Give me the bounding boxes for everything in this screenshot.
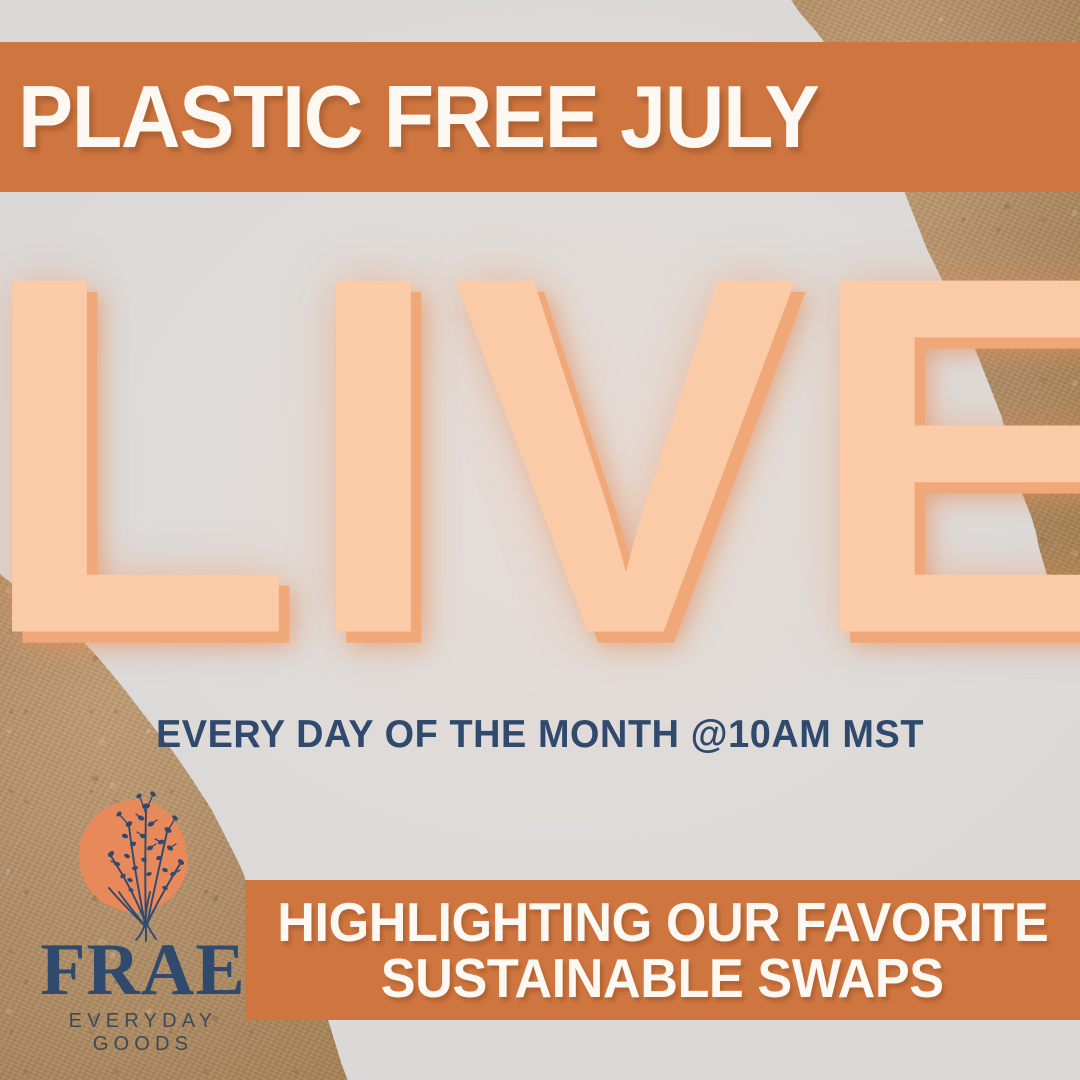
poster-canvas: LIVE PLASTIC FREE JULY EVERY DAY OF THE … xyxy=(0,0,1080,1080)
bottom-banner: HIGHLIGHTING OUR FAVORITE SUSTAINABLE SW… xyxy=(245,880,1080,1020)
live-headline: LIVE xyxy=(0,217,1080,691)
top-banner-title: PLASTIC FREE JULY xyxy=(18,73,818,161)
brand-logo: FRAE EVERYDAY GOODS xyxy=(18,764,268,1056)
logo-mark xyxy=(53,764,233,942)
live-headline-wrap: LIVE xyxy=(0,222,1080,687)
bottom-banner-line-2: SUSTAINABLE SWAPS xyxy=(381,950,944,1006)
bottom-banner-line-1: HIGHLIGHTING OUR FAVORITE xyxy=(277,894,1048,950)
logo-wordmark: FRAE xyxy=(18,938,268,1003)
schedule-subtitle: EVERY DAY OF THE MONTH @10AM MST xyxy=(16,713,1064,757)
logo-tagline: EVERYDAY GOODS xyxy=(18,1010,268,1056)
top-banner: PLASTIC FREE JULY xyxy=(0,42,1080,192)
wildflower-sprig-icon xyxy=(53,764,233,942)
